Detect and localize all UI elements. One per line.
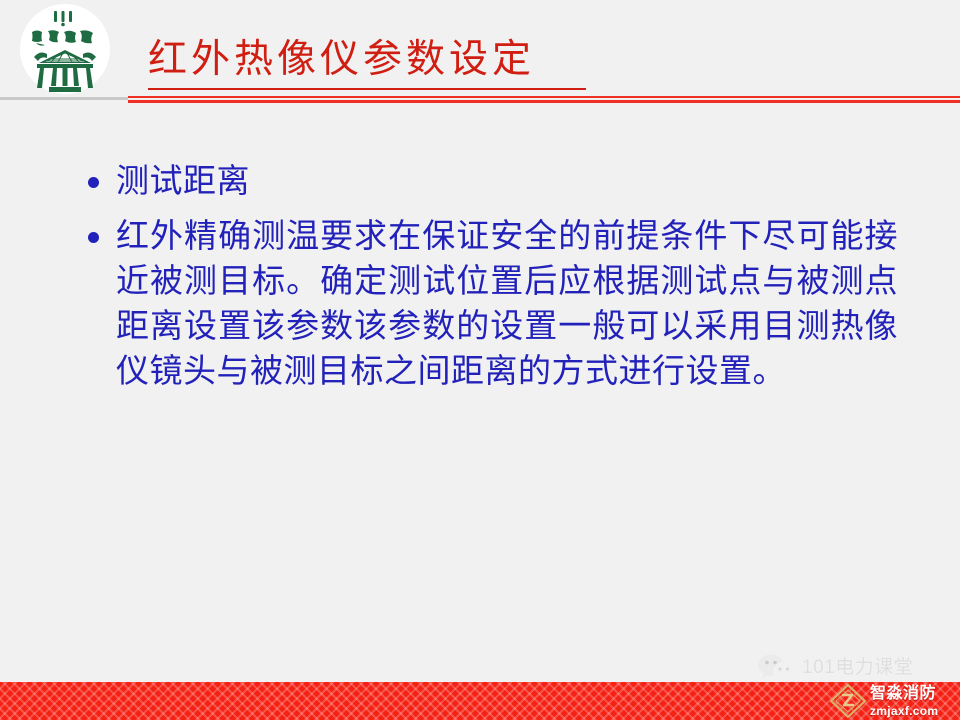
- header-divider-red-bottom: [128, 100, 960, 103]
- bullet-dot-icon: [88, 232, 99, 243]
- slide-body: 测试距离 红外精确测温要求在保证安全的前提条件下尽可能接近被测目标。确定测试位置…: [88, 160, 898, 395]
- logo-emblem-icon: [16, 2, 114, 96]
- bullet-item: 测试距离: [88, 160, 898, 205]
- bullet-dot-icon: [88, 177, 99, 188]
- org-logo: [16, 2, 114, 96]
- slide-header: 红外热像仪参数设定: [0, 0, 960, 104]
- wechat-icon: [757, 654, 797, 682]
- footer-red-bar: [0, 682, 960, 720]
- watermark-stamp: 智淼消防 zmjaxf.com: [828, 682, 960, 720]
- header-divider-red-top: [128, 96, 960, 98]
- page-title-underline: [148, 88, 586, 90]
- bullet-item: 红外精确测温要求在保证安全的前提条件下尽可能接近被测目标。确定测试位置后应根据测…: [88, 215, 898, 395]
- page-title: 红外热像仪参数设定: [148, 38, 535, 82]
- stamp-brand-name: 智淼消防: [870, 686, 938, 702]
- wechat-promo: 101电力课堂: [757, 652, 913, 684]
- zhimiao-stamp-icon: [828, 683, 868, 719]
- wechat-label: 101电力课堂: [802, 657, 913, 679]
- stamp-website: zmjaxf.com: [870, 705, 938, 717]
- bullet-text: 测试距离: [116, 160, 898, 205]
- bullet-text: 红外精确测温要求在保证安全的前提条件下尽可能接近被测目标。确定测试位置后应根据测…: [116, 215, 898, 395]
- stamp-text-block: 智淼消防 zmjaxf.com: [870, 686, 938, 717]
- slide-canvas: 红外热像仪参数设定 测试距离 红外精确测温要求在保证安全的前提条件下尽可能接近被…: [0, 0, 960, 720]
- header-divider-gray: [0, 97, 128, 100]
